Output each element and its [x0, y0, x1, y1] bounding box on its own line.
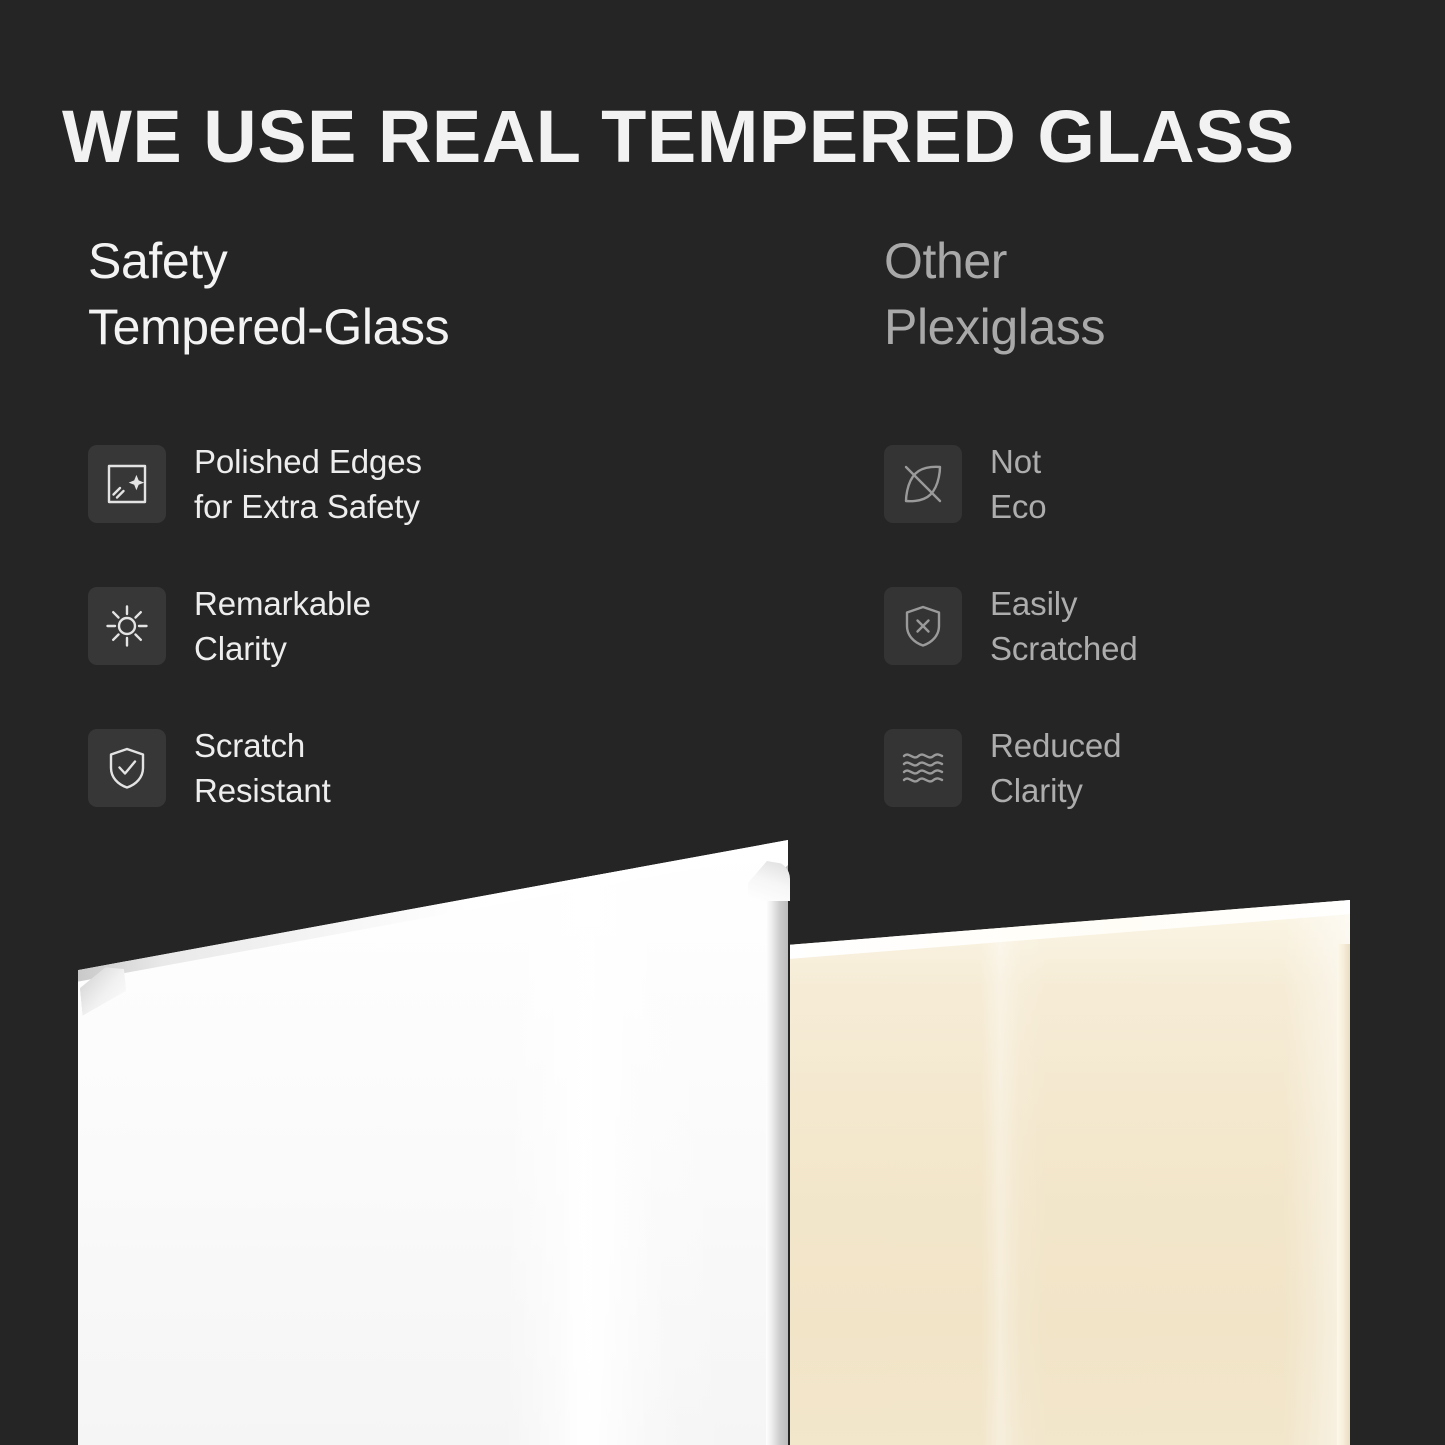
column-plexiglass: Other Plexiglass Not Eco — [884, 228, 1444, 826]
feature-item: Scratch Resistant — [88, 710, 648, 826]
feature-label: Scratch Resistant — [194, 723, 331, 813]
column-heading-left: Safety Tempered-Glass — [88, 228, 648, 360]
feature-list-left: Polished Edges for Extra Safety Remarkab… — [88, 426, 648, 826]
column-tempered-glass: Safety Tempered-Glass Polished Edges for… — [88, 228, 648, 826]
sun-icon — [88, 587, 166, 665]
feature-list-right: Not Eco Easily Scratched — [884, 426, 1444, 826]
shield-x-icon — [884, 587, 962, 665]
leaf-crossed-out-icon — [884, 445, 962, 523]
feature-item: Easily Scratched — [884, 568, 1444, 684]
feature-label: Not Eco — [990, 439, 1047, 529]
shield-check-icon — [88, 729, 166, 807]
wavy-lines-icon — [884, 729, 962, 807]
glass-reflection-highlight — [78, 840, 788, 1445]
feature-item: Not Eco — [884, 426, 1444, 542]
glass-right-bevel — [766, 865, 788, 1445]
feature-item: Polished Edges for Extra Safety — [88, 426, 648, 542]
feature-label: Remarkable Clarity — [194, 581, 371, 671]
yellowed-plexiglass-panel — [790, 900, 1350, 1445]
feature-item: Remarkable Clarity — [88, 568, 648, 684]
polished-glass-pane-icon — [88, 445, 166, 523]
column-heading-right: Other Plexiglass — [884, 228, 1444, 360]
page-title: WE USE REAL TEMPERED GLASS — [62, 93, 1392, 181]
plexiglass-right-bevel — [1337, 944, 1350, 1445]
feature-item: Reduced Clarity — [884, 710, 1444, 826]
feature-label: Easily Scratched — [990, 581, 1138, 671]
feature-label: Polished Edges for Extra Safety — [194, 439, 422, 529]
comparison-infographic: WE USE REAL TEMPERED GLASS Safety Temper… — [0, 0, 1445, 1445]
feature-label: Reduced Clarity — [990, 723, 1121, 813]
comparison-columns: Safety Tempered-Glass Polished Edges for… — [0, 228, 1445, 848]
product-panels — [0, 840, 1445, 1445]
